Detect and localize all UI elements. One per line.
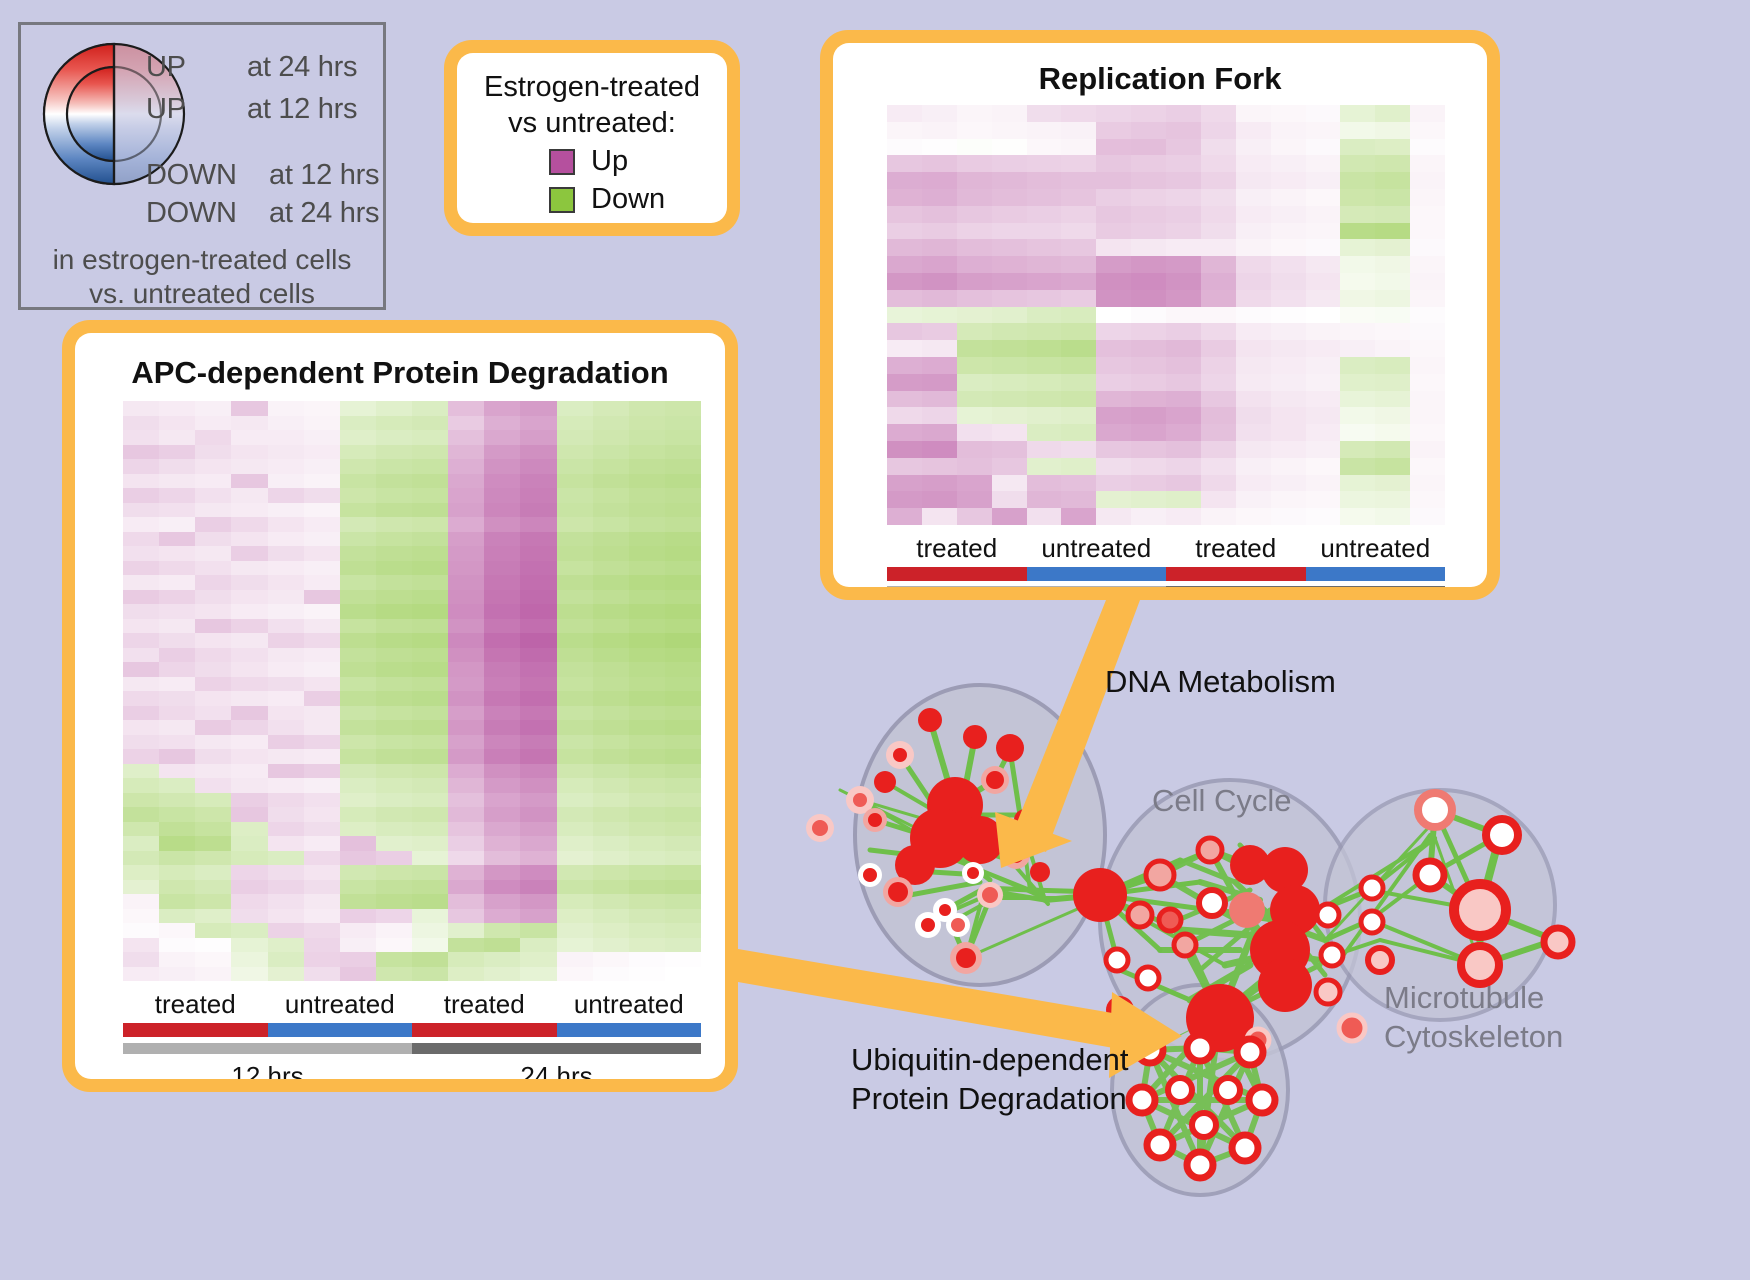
legend-caption-line2: vs. untreated cells: [21, 277, 383, 311]
heatmap-cell: [1236, 290, 1271, 307]
heatmap-cell: [123, 503, 159, 518]
heatmap-cell: [376, 909, 412, 924]
heatmap-cell: [629, 401, 665, 416]
heatmap-cell: [1271, 508, 1306, 525]
heatmap-cell: [1027, 491, 1062, 508]
heatmap-cell: [1061, 223, 1096, 240]
heatmap-cell: [304, 459, 340, 474]
heatmap-cell: [665, 851, 701, 866]
heatmap-cell: [1166, 475, 1201, 492]
heatmap-cell: [412, 503, 448, 518]
heatmap-cell: [1131, 256, 1166, 273]
heatmap-cell: [123, 416, 159, 431]
heatmap-cell: [340, 836, 376, 851]
heatmap-cell: [1096, 340, 1131, 357]
heatmap-cell: [1131, 424, 1166, 441]
heatmap-cell: [376, 836, 412, 851]
heatmap-cell: [887, 475, 922, 492]
heatmap-cell: [340, 503, 376, 518]
heatmap-cell: [557, 691, 593, 706]
heatmap-cell: [376, 691, 412, 706]
heatmap-cell: [268, 445, 304, 460]
heatmap-cell: [268, 807, 304, 822]
heatmap-cell: [484, 532, 520, 547]
heatmap-cell: [484, 503, 520, 518]
heatmap-cell: [376, 546, 412, 561]
heatmap-cell: [340, 865, 376, 880]
heatmap-cell: [1271, 155, 1306, 172]
heatmap-cell: [520, 604, 556, 619]
heatmap-cell: [340, 691, 376, 706]
heatmap-cell: [1061, 340, 1096, 357]
heatmap-cell: [448, 430, 484, 445]
heatmap-cell: [340, 474, 376, 489]
heatmap-cell: [1061, 307, 1096, 324]
heatmap-cell: [159, 648, 195, 663]
heatmap-cell: [123, 590, 159, 605]
heatmap-cell: [304, 851, 340, 866]
heatmap-cell: [1410, 374, 1445, 391]
heatmap-cell: [1131, 307, 1166, 324]
rf-timebar-24: [1166, 586, 1445, 587]
heatmap-cell: [412, 778, 448, 793]
heatmap-cell: [520, 923, 556, 938]
heatmap-cell: [231, 619, 267, 634]
heatmap-cell: [1271, 323, 1306, 340]
heatmap-cell: [1131, 290, 1166, 307]
heatmap-cell: [593, 416, 629, 431]
label-dna-metabolism: DNA Metabolism: [1105, 664, 1336, 700]
heatmap-cell: [665, 401, 701, 416]
heatmap-cell: [1306, 273, 1341, 290]
heatmap-cell: [992, 340, 1027, 357]
heatmap-cell: [123, 894, 159, 909]
heatmap-cell: [159, 793, 195, 808]
heatmap-cell: [1271, 475, 1306, 492]
heatmap-cell: [484, 430, 520, 445]
heatmap-cell: [1236, 491, 1271, 508]
heatmap-cell: [557, 938, 593, 953]
heatmap-cell: [448, 677, 484, 692]
heatmap-cell: [448, 836, 484, 851]
heatmap-cell: [1061, 139, 1096, 156]
heatmap-cell: [340, 735, 376, 750]
heatmap-cell: [629, 880, 665, 895]
heatmap-cell: [593, 401, 629, 416]
apc-treatment-bar: [123, 1023, 701, 1037]
heatmap-cell: [123, 662, 159, 677]
heatmap-cell: [520, 546, 556, 561]
heatmap-cell: [1096, 475, 1131, 492]
heatmap-cell: [1131, 374, 1166, 391]
heatmap-cell: [304, 880, 340, 895]
legend-row-2-time: at 12 hrs: [269, 161, 379, 190]
heatmap-cell: [123, 909, 159, 924]
heatmap-cell: [268, 561, 304, 576]
heatmap-cell: [412, 561, 448, 576]
label-cell-cycle: Cell Cycle: [1152, 783, 1292, 819]
heatmap-cell: [159, 633, 195, 648]
heatmap-cell: [412, 836, 448, 851]
heatmap-cell: [629, 822, 665, 837]
heatmap-cell: [557, 401, 593, 416]
heatmap-cell: [376, 459, 412, 474]
heatmap-cell: [412, 706, 448, 721]
heatmap-cell: [159, 517, 195, 532]
heatmap-cell: [340, 938, 376, 953]
heatmap-cell: [1306, 307, 1341, 324]
heatmap-cell: [1096, 155, 1131, 172]
heatmap-cell: [1340, 475, 1375, 492]
heatmap-cell: [1306, 441, 1341, 458]
heatmap-cell: [629, 488, 665, 503]
heatmap-cell: [593, 735, 629, 750]
heatmap-cell: [231, 445, 267, 460]
heatmap-cell: [1236, 239, 1271, 256]
heatmap-cell: [1306, 458, 1341, 475]
heatmap-cell: [593, 503, 629, 518]
heatmap-cell: [665, 590, 701, 605]
heatmap-cell: [195, 575, 231, 590]
heatmap-cell: [412, 851, 448, 866]
heatmap-cell: [557, 706, 593, 721]
heatmap-cell: [304, 967, 340, 982]
heatmap-cell: [376, 952, 412, 967]
heatmap-cell: [922, 475, 957, 492]
heatmap-cell: [520, 430, 556, 445]
legend-row-1-label: UP: [146, 95, 186, 124]
heatmap-cell: [992, 491, 1027, 508]
heatmap-cell: [484, 488, 520, 503]
heatmap-cell: [1131, 508, 1166, 525]
heatmap-cell: [992, 424, 1027, 441]
heatmap-cell: [1271, 340, 1306, 357]
heatmap-cell: [1340, 391, 1375, 408]
heatmap-cell: [304, 778, 340, 793]
apc-bar-untreated-24: [557, 1023, 702, 1037]
heatmap-cell: [887, 307, 922, 324]
heatmap-cell: [1375, 475, 1410, 492]
heatmap-cell: [231, 677, 267, 692]
heatmap-cell: [520, 851, 556, 866]
heatmap-cell: [1096, 491, 1131, 508]
heatmap-cell: [159, 488, 195, 503]
heatmap-cell: [1166, 374, 1201, 391]
heatmap-cell: [1271, 105, 1306, 122]
heatmap-cell: [1271, 206, 1306, 223]
heatmap-cell: [1410, 172, 1445, 189]
heatmap-cell: [340, 517, 376, 532]
heatmap-cell: [1166, 391, 1201, 408]
heatmap-cell: [195, 967, 231, 982]
rf-group-labels: treated untreated treated untreated: [887, 533, 1445, 564]
heatmap-cell: [1201, 189, 1236, 206]
heatmap-cell: [922, 172, 957, 189]
heatmap-cell: [665, 720, 701, 735]
heatmap-cell: [1306, 391, 1341, 408]
heatmap-cell: [1166, 323, 1201, 340]
rf-treatment-bar: [887, 567, 1445, 581]
heatmap-cell: [484, 735, 520, 750]
heatmap-cell: [195, 619, 231, 634]
heatmap-cell: [123, 749, 159, 764]
heatmap-cell: [484, 546, 520, 561]
heatmap-cell: [1131, 323, 1166, 340]
heatmap-cell: [520, 488, 556, 503]
heatmap-cell: [629, 517, 665, 532]
heatmap-cell: [304, 648, 340, 663]
heatmap-cell: [629, 430, 665, 445]
heatmap-cell: [1410, 105, 1445, 122]
heatmap-cell: [268, 575, 304, 590]
heatmap-cell: [412, 488, 448, 503]
heatmap-cell: [1061, 374, 1096, 391]
heatmap-cell: [520, 590, 556, 605]
heatmap-cell: [195, 706, 231, 721]
heatmap-cell: [159, 735, 195, 750]
heatmap-cell: [448, 764, 484, 779]
heatmap-cell: [593, 430, 629, 445]
heatmap-cell: [159, 445, 195, 460]
heatmap-cell: [376, 590, 412, 605]
heatmap-cell: [268, 923, 304, 938]
heatmap-cell: [195, 720, 231, 735]
heatmap-cell: [665, 938, 701, 953]
heatmap-cell: [340, 648, 376, 663]
heatmap-cell: [448, 952, 484, 967]
heatmap-cell: [268, 517, 304, 532]
heatmap-cell: [520, 633, 556, 648]
heatmap-cell: [1340, 458, 1375, 475]
heatmap-cell: [231, 894, 267, 909]
heatmap-cell: [159, 546, 195, 561]
rf-timebar-12: [887, 586, 1166, 587]
heatmap-cell: [629, 894, 665, 909]
heatmap-cell: [159, 619, 195, 634]
heatmap-cell: [448, 749, 484, 764]
heatmap-cell: [665, 865, 701, 880]
heatmap-cell: [304, 691, 340, 706]
heatmap-cell: [231, 720, 267, 735]
heatmap-cell: [159, 416, 195, 431]
heatmap-cell: [557, 662, 593, 677]
heatmap-cell: [231, 546, 267, 561]
heatmap-cell: [484, 401, 520, 416]
heatmap-cell: [957, 357, 992, 374]
heatmap-cell: [992, 256, 1027, 273]
heatmap-cell: [1306, 407, 1341, 424]
heatmap-cell: [957, 155, 992, 172]
heatmap-cell: [376, 706, 412, 721]
heatmap-cell: [304, 923, 340, 938]
heatmap-cell: [665, 691, 701, 706]
heatmap-cell: [340, 822, 376, 837]
heatmap-cell: [484, 865, 520, 880]
heatmap-cell: [1166, 441, 1201, 458]
heatmap-cell: [1096, 290, 1131, 307]
heatmap-cell: [1096, 323, 1131, 340]
heatmap-cell: [376, 445, 412, 460]
heatmap-cell: [195, 952, 231, 967]
heatmap-cell: [1236, 189, 1271, 206]
heatmap-cell: [1166, 256, 1201, 273]
heatmap-cell: [484, 836, 520, 851]
heatmap-cell: [887, 239, 922, 256]
heatmap-cell: [593, 445, 629, 460]
heatmap-cell: [629, 851, 665, 866]
heatmap-cell: [1061, 290, 1096, 307]
heatmap-cell: [484, 459, 520, 474]
heatmap-cell: [1201, 424, 1236, 441]
heatmap-cell: [557, 677, 593, 692]
heatmap-cell: [231, 474, 267, 489]
heatmap-cell: [1166, 290, 1201, 307]
heatmap-cell: [340, 952, 376, 967]
heatmap-cell: [1375, 491, 1410, 508]
heatmap-cell: [922, 508, 957, 525]
down-label: Down: [591, 185, 665, 214]
heatmap-cell: [1201, 223, 1236, 240]
heatmap-cell: [412, 749, 448, 764]
circle-legend-box: UP at 24 hrs UP at 12 hrs DOWN at 12 hrs…: [18, 22, 386, 310]
heatmap-cell: [1236, 172, 1271, 189]
heatmap-cell: [1306, 357, 1341, 374]
heatmap-cell: [195, 894, 231, 909]
heatmap-cell: [195, 604, 231, 619]
legend-row-0-label: UP: [146, 53, 186, 82]
heatmap-cell: [1236, 273, 1271, 290]
heatmap-cell: [1306, 122, 1341, 139]
heatmap-cell: [922, 357, 957, 374]
heatmap-cell: [159, 749, 195, 764]
heatmap-cell: [665, 459, 701, 474]
heatmap-cell: [159, 851, 195, 866]
legend-row-2-label: DOWN: [146, 161, 237, 190]
apc-bar-treated-24: [412, 1023, 557, 1037]
heatmap-cell: [340, 561, 376, 576]
heatmap-cell: [376, 822, 412, 837]
heatmap-cell: [484, 517, 520, 532]
heatmap-cell: [448, 735, 484, 750]
heatmap-cell: [484, 619, 520, 634]
heatmap-cell: [1131, 172, 1166, 189]
heatmap-cell: [665, 604, 701, 619]
heatmap-cell: [1410, 340, 1445, 357]
heatmap-cell: [1061, 475, 1096, 492]
heatmap-cell: [448, 575, 484, 590]
heatmap-cell: [1340, 323, 1375, 340]
heatmap-cell: [376, 778, 412, 793]
heatmap-cell: [887, 323, 922, 340]
heatmap-cell: [340, 662, 376, 677]
heatmap-cell: [557, 459, 593, 474]
heatmap-cell: [1096, 441, 1131, 458]
heatmap-cell: [1410, 458, 1445, 475]
apc-group-label-0: treated: [123, 989, 268, 1020]
heatmap-cell: [520, 677, 556, 692]
heatmap-cell: [195, 749, 231, 764]
heatmap-cell: [304, 706, 340, 721]
heatmap-cell: [593, 488, 629, 503]
heatmap-cell: [1410, 239, 1445, 256]
heatmap-cell: [1096, 256, 1131, 273]
heatmap-cell: [412, 865, 448, 880]
heatmap-cell: [231, 735, 267, 750]
heatmap-cell: [957, 223, 992, 240]
heatmap-cell: [665, 633, 701, 648]
heatmap-cell: [412, 807, 448, 822]
heatmap-cell: [1271, 122, 1306, 139]
heatmap-cell: [1340, 374, 1375, 391]
heatmap-cell: [665, 474, 701, 489]
heatmap-cell: [412, 894, 448, 909]
heatmap-cell: [1131, 340, 1166, 357]
heatmap-cell: [484, 923, 520, 938]
heatmap-cell: [665, 923, 701, 938]
heatmap-cell: [557, 778, 593, 793]
heatmap-cell: [195, 677, 231, 692]
heatmap-cell: [593, 836, 629, 851]
heatmap-cell: [665, 894, 701, 909]
heatmap-cell: [1236, 139, 1271, 156]
heatmap-cell: [520, 691, 556, 706]
heatmap-cell: [922, 189, 957, 206]
heatmap-cell: [1096, 508, 1131, 525]
heatmap-cell: [159, 952, 195, 967]
heatmap-cell: [1201, 323, 1236, 340]
heatmap-cell: [1375, 407, 1410, 424]
heatmap-cell: [593, 865, 629, 880]
heatmap-cell: [448, 938, 484, 953]
heatmap-cell: [887, 139, 922, 156]
heatmap-cell: [1201, 256, 1236, 273]
heatmap-cell: [231, 923, 267, 938]
heatmap-cell: [992, 290, 1027, 307]
heatmap-cell: [159, 938, 195, 953]
heatmap-cell: [629, 474, 665, 489]
heatmap-cell: [448, 923, 484, 938]
heatmap-cell: [557, 445, 593, 460]
heatmap-cell: [629, 619, 665, 634]
heatmap-cell: [992, 391, 1027, 408]
heatmap-cell: [195, 735, 231, 750]
heatmap-cell: [268, 793, 304, 808]
heatmap-cell: [992, 357, 1027, 374]
heatmap-cell: [1096, 223, 1131, 240]
heatmap-cell: [629, 532, 665, 547]
heatmap-cell: [957, 441, 992, 458]
network-graph: [780, 620, 1750, 1280]
heatmap-cell: [1340, 424, 1375, 441]
rf-time-bar: [887, 586, 1445, 587]
heatmap-cell: [123, 923, 159, 938]
label-microtubule-cytoskeleton: Microtubule Cytoskeleton: [1384, 978, 1563, 1056]
heatmap-cell: [1410, 323, 1445, 340]
heatmap-cell: [159, 778, 195, 793]
heatmap-cell: [268, 764, 304, 779]
heatmap-cell: [304, 938, 340, 953]
heatmap-cell: [123, 764, 159, 779]
heatmap-cell: [268, 474, 304, 489]
heatmap-cell: [340, 416, 376, 431]
heatmap-cell: [340, 923, 376, 938]
estrogen-legend-line1: Estrogen-treated: [457, 71, 727, 104]
heatmap-cell: [340, 575, 376, 590]
heatmap-cell: [231, 909, 267, 924]
heatmap-cell: [123, 430, 159, 445]
heatmap-cell: [1236, 391, 1271, 408]
heatmap-cell: [195, 474, 231, 489]
